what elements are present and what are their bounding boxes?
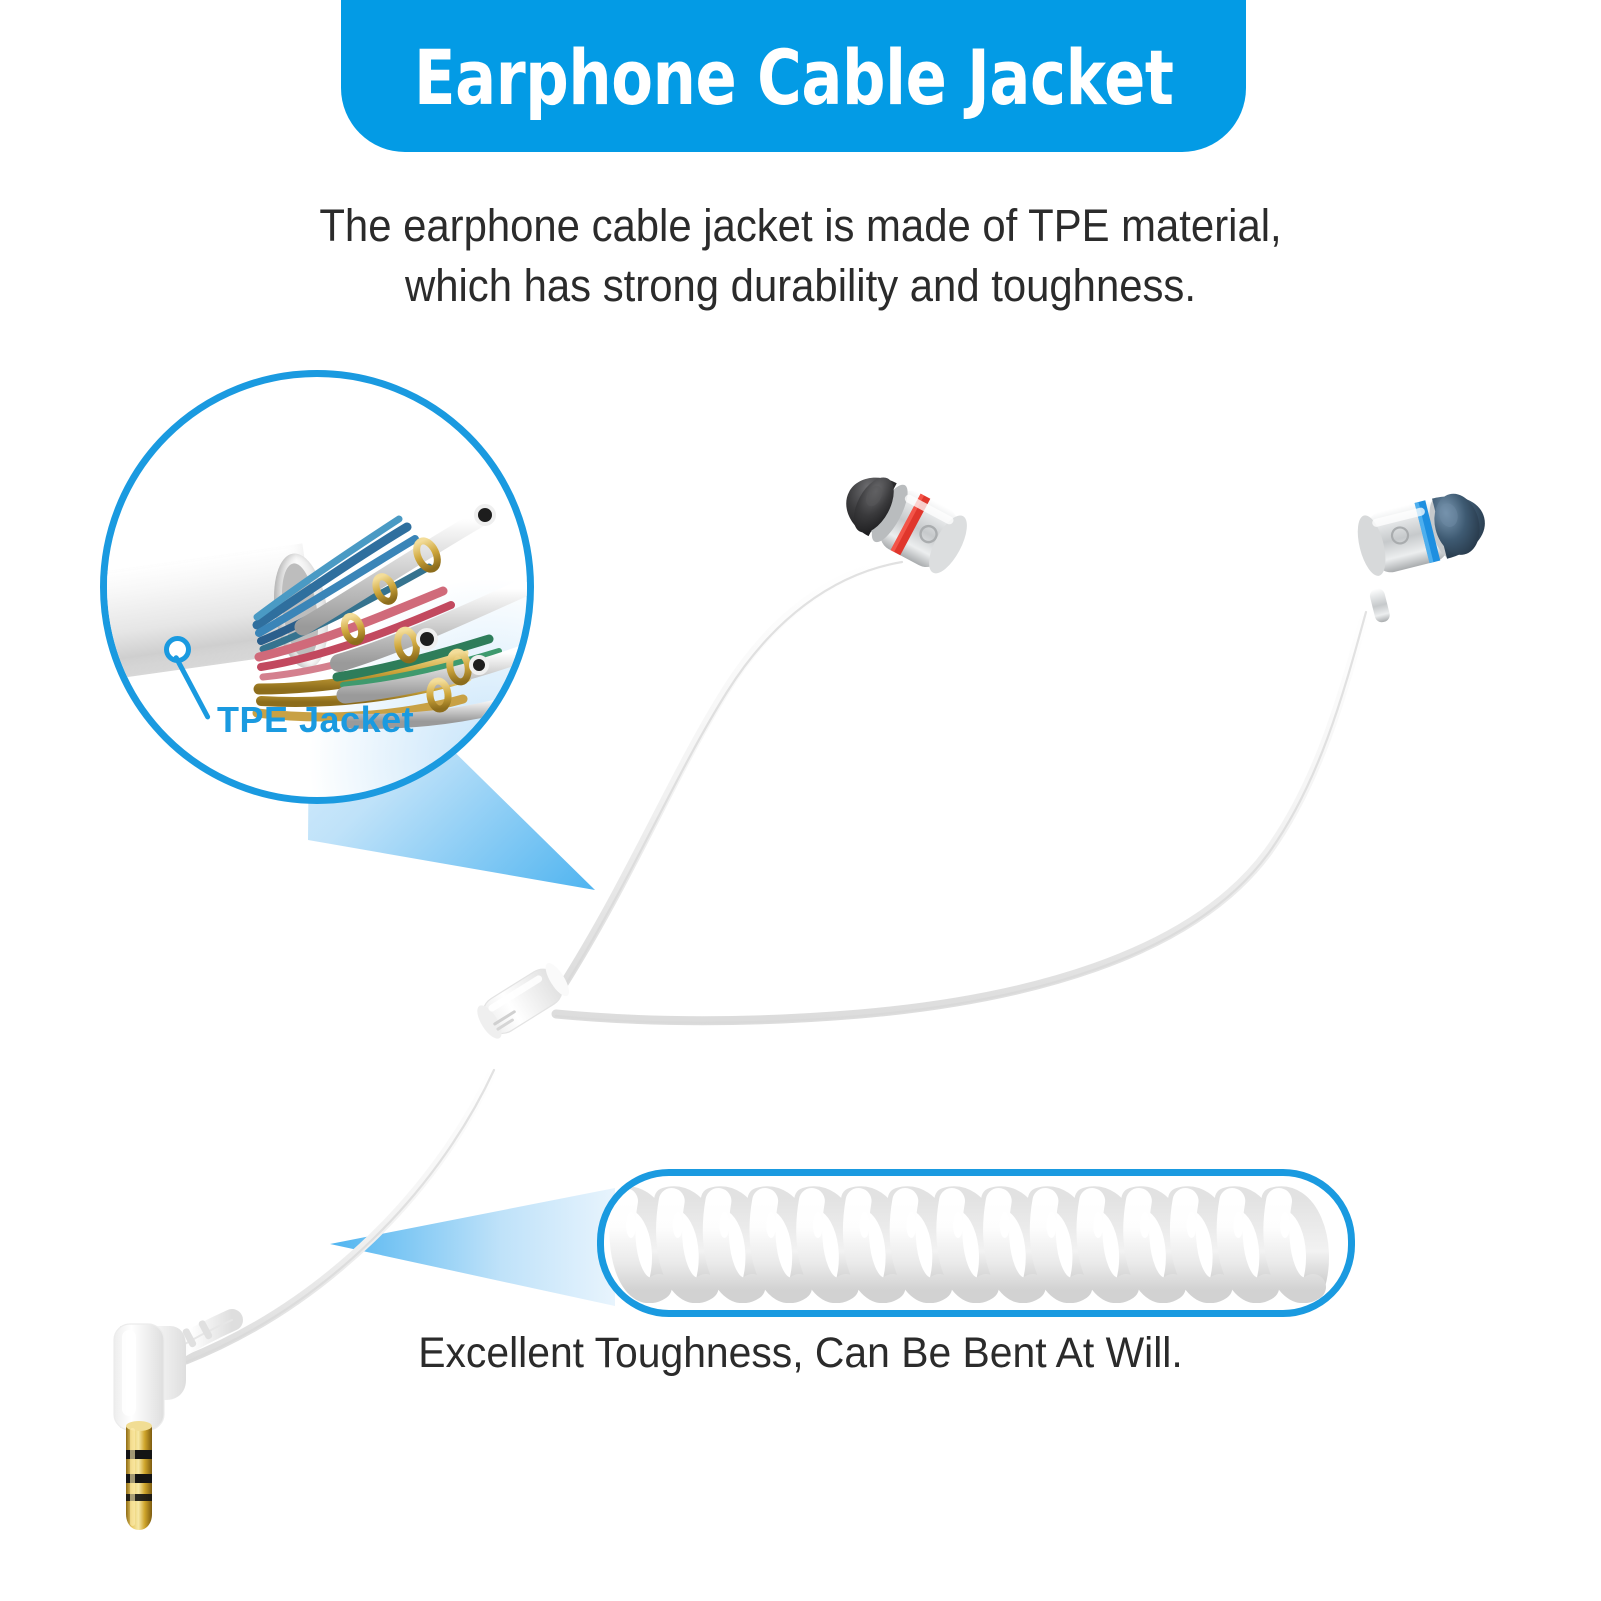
coil-highlight bbox=[1233, 1212, 1243, 1238]
coil-highlight bbox=[1187, 1212, 1197, 1238]
cable-cross-section-inset: TPE Jacket bbox=[100, 370, 534, 804]
coil-highlight bbox=[813, 1212, 823, 1238]
subtitle-text: The earphone cable jacket is made of TPE… bbox=[56, 196, 1545, 316]
subtitle-line-2: which has strong durability and toughnes… bbox=[56, 256, 1545, 316]
coil-cable-inset bbox=[597, 1169, 1355, 1317]
header-banner: Earphone Cable Jacket bbox=[341, 0, 1246, 152]
coiled-cable-graphic bbox=[597, 1169, 1341, 1303]
right-earbud bbox=[1351, 487, 1503, 623]
infographic-canvas: Earphone Cable Jacket The earphone cable… bbox=[0, 0, 1601, 1601]
coil-highlight bbox=[1000, 1212, 1010, 1238]
coil-highlight bbox=[1046, 1212, 1056, 1238]
tpe-jacket-label: TPE Jacket bbox=[217, 699, 414, 741]
coil-highlight bbox=[1093, 1212, 1103, 1238]
pointer-cone-bottom bbox=[330, 1182, 620, 1312]
coil-highlight bbox=[1280, 1212, 1290, 1238]
coil-highlight bbox=[860, 1212, 870, 1238]
coil-highlight bbox=[626, 1212, 636, 1238]
coil-highlight bbox=[953, 1212, 963, 1238]
page-title: Earphone Cable Jacket bbox=[414, 33, 1174, 122]
coil-highlight bbox=[719, 1212, 729, 1238]
left-earbud bbox=[834, 464, 974, 579]
coil-highlight bbox=[766, 1212, 776, 1238]
coil-caption: Excellent Toughness, Can Be Bent At Will… bbox=[40, 1329, 1561, 1378]
inline-splitter bbox=[473, 960, 574, 1043]
coil-highlight bbox=[906, 1212, 916, 1238]
coil-highlight bbox=[1140, 1212, 1150, 1238]
coil-highlight bbox=[673, 1212, 683, 1238]
subtitle-line-1: The earphone cable jacket is made of TPE… bbox=[319, 200, 1281, 251]
